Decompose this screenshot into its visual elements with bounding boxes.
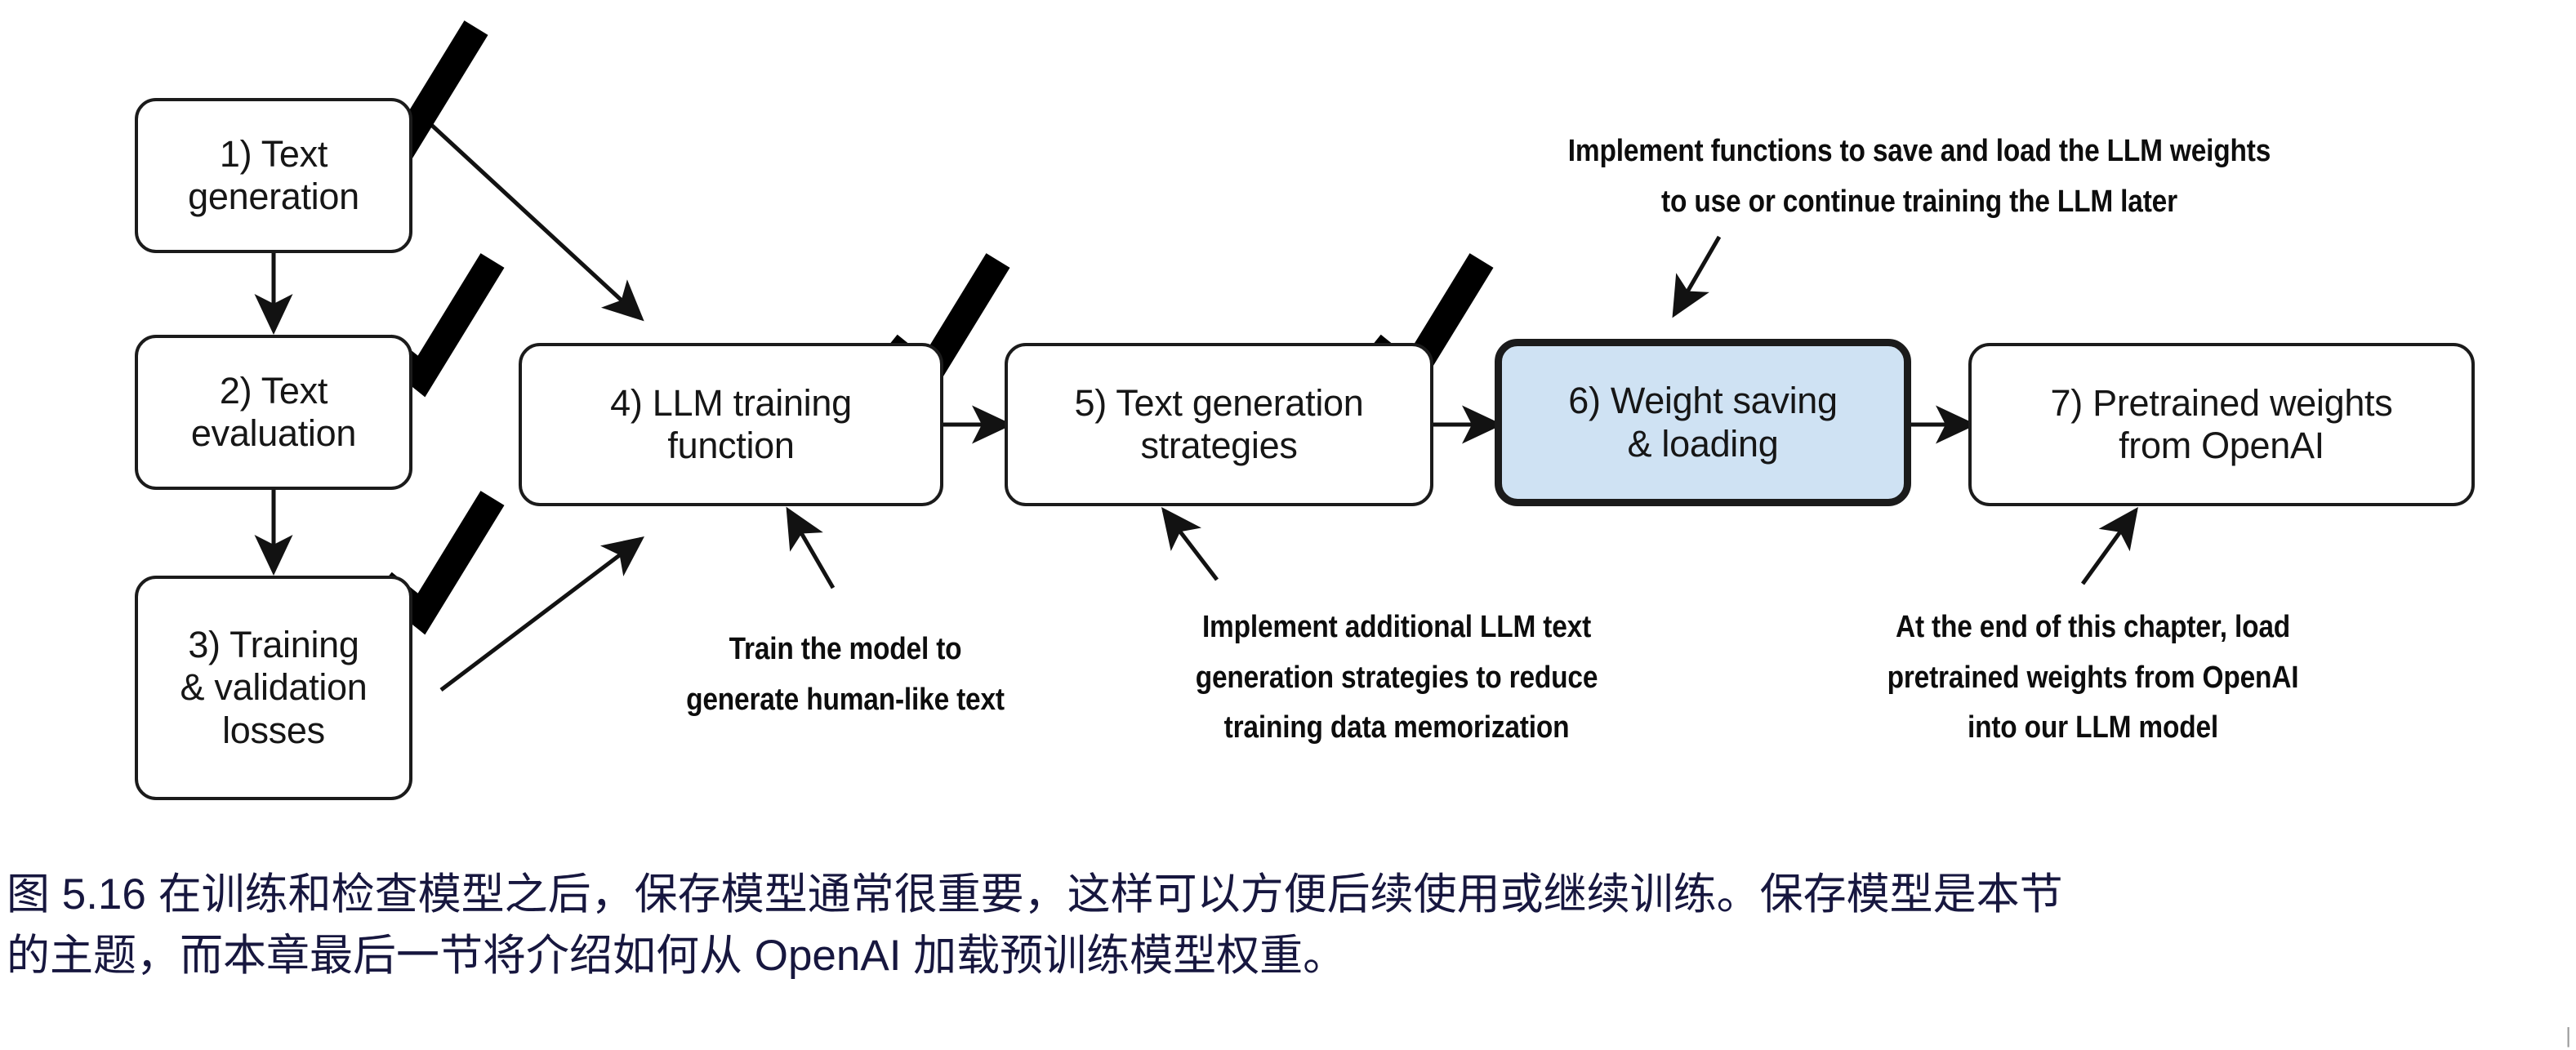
node-weight-saving-loading[interactable]: 6) Weight saving & loading bbox=[1495, 339, 1911, 506]
node-label: 5) Text generation strategies bbox=[1074, 382, 1363, 467]
node-label: 4) LLM training function bbox=[610, 382, 852, 467]
page-edge-marker: | bbox=[2565, 1023, 2571, 1048]
leader-a4 bbox=[788, 510, 833, 588]
node-label: 1) Text generation bbox=[188, 133, 359, 218]
node-label: 3) Training & validation losses bbox=[180, 624, 367, 752]
node-llm-training-function[interactable]: 4) LLM training function bbox=[519, 343, 943, 506]
node-training-validation-losses[interactable]: 3) Training & validation losses bbox=[135, 576, 412, 800]
caption-line-1: 图 5.16 在训练和检查模型之后，保存模型通常很重要，这样可以方便后续使用或继… bbox=[7, 864, 2571, 925]
node-text-generation-strategies[interactable]: 5) Text generation strategies bbox=[1005, 343, 1433, 506]
figure-caption: 图 5.16 在训练和检查模型之后，保存模型通常很重要，这样可以方便后续使用或继… bbox=[7, 864, 2571, 987]
annotation-pretrained-weights: At the end of this chapter, load pretrai… bbox=[1815, 603, 2372, 754]
node-label: 6) Weight saving & loading bbox=[1568, 380, 1838, 465]
node-label: 2) Text evaluation bbox=[191, 370, 356, 455]
node-label: 7) Pretrained weights from OpenAI bbox=[2051, 382, 2393, 467]
node-pretrained-weights-openai[interactable]: 7) Pretrained weights from OpenAI bbox=[1968, 343, 2475, 506]
node-text-evaluation[interactable]: 2) Text evaluation bbox=[135, 335, 412, 490]
leader-a7 bbox=[2083, 510, 2136, 584]
figure-canvas: 1) Text generation 2) Text evaluation 3)… bbox=[0, 0, 2576, 1050]
node-text-generation[interactable]: 1) Text generation bbox=[135, 98, 412, 253]
leader-a6 bbox=[1674, 237, 1719, 314]
annotation-weight-saving: Implement functions to save and load the… bbox=[1467, 127, 2373, 227]
annotation-generation-strategies: Implement additional LLM text generation… bbox=[1124, 603, 1670, 754]
caption-line-2: 的主题，而本章最后一节将介绍如何从 OpenAI 加载预训练模型权重。 bbox=[7, 925, 2571, 986]
leader-a5 bbox=[1164, 510, 1217, 580]
annotation-llm-training: Train the model to generate human-like t… bbox=[597, 625, 1093, 725]
